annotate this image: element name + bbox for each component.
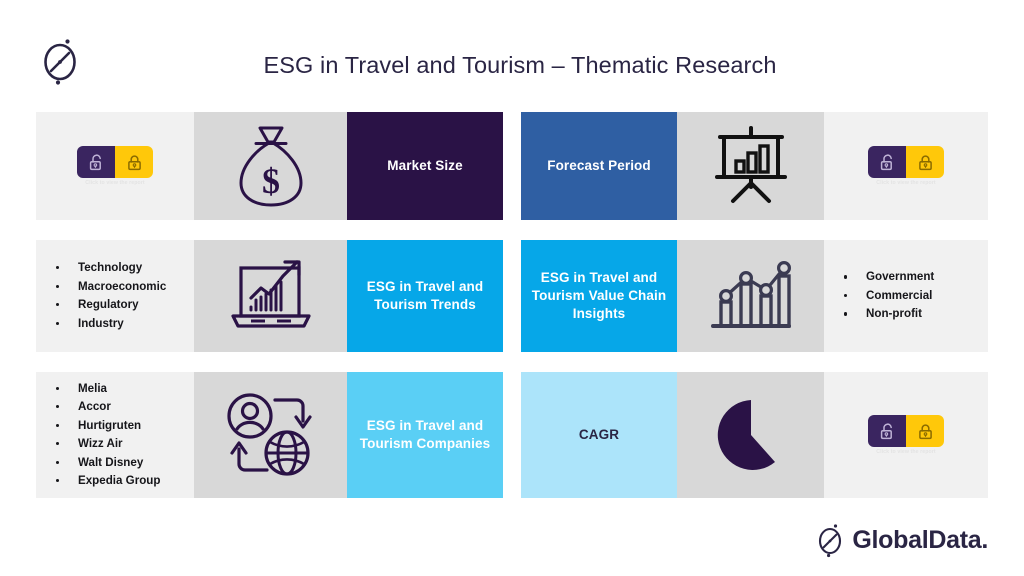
lock-toggle[interactable] [868, 415, 944, 447]
icon-cell-pie-chart [677, 372, 824, 498]
bar-line-combo-chart-icon [705, 256, 797, 336]
list-item: Wizz Air [50, 435, 188, 454]
list-item: Melia [50, 380, 188, 399]
unlock-icon[interactable] [868, 146, 906, 178]
bullet-list: Melia Accor Hurtigruten Wizz Air Walt Di… [36, 380, 194, 491]
list-item: Macroeconomic [50, 278, 188, 297]
label-cell-forecast-period[interactable]: Forecast Period [521, 112, 677, 220]
laptop-growth-chart-icon [225, 258, 317, 334]
row-gap [503, 112, 521, 220]
label-cell-trends[interactable]: ESG in Travel and Tourism Trends [347, 240, 503, 352]
globaldata-mark-icon [815, 522, 845, 558]
icon-cell-money-bag: $ [194, 112, 347, 220]
lock-toggle[interactable] [868, 146, 944, 178]
presentation-bar-chart-icon [707, 125, 795, 207]
row-companies: Melia Accor Hurtigruten Wizz Air Walt Di… [36, 372, 988, 498]
row-trends-right-group: ESG in Travel and Tourism Value Chain In… [521, 240, 988, 352]
money-bag-icon: $ [233, 123, 309, 209]
card-label: ESG in Travel and Tourism Value Chain In… [521, 269, 677, 324]
list-item: Technology [50, 259, 188, 278]
list-item: Non-profit [838, 305, 982, 324]
list-item: Expedia Group [50, 472, 188, 491]
bullets-cell-companies: Melia Accor Hurtigruten Wizz Air Walt Di… [36, 372, 194, 498]
lock-widget[interactable]: Click to view the report [868, 146, 944, 186]
lock-caption: Click to view the report [85, 180, 144, 186]
user-globe-exchange-icon [223, 389, 319, 481]
bullets-cell-stakeholders: Government Commercial Non-profit [824, 240, 988, 352]
globaldata-mark-icon [38, 36, 82, 86]
svg-text:$: $ [262, 161, 280, 201]
lock-icon[interactable] [115, 146, 153, 178]
label-cell-market-size[interactable]: Market Size [347, 112, 503, 220]
card-label: ESG in Travel and Tourism Trends [347, 278, 503, 314]
row-gap [503, 240, 521, 352]
card-label: CAGR [569, 426, 629, 444]
list-item: Commercial [838, 287, 982, 306]
unlock-icon[interactable] [77, 146, 115, 178]
icon-cell-user-globe [194, 372, 347, 498]
label-cell-companies[interactable]: ESG in Travel and Tourism Companies [347, 372, 503, 498]
page-title: ESG in Travel and Tourism – Thematic Res… [140, 52, 900, 79]
row-market-size-right-group: Forecast Period [521, 112, 988, 220]
lock-cell-row1-right[interactable]: Click to view the report [824, 112, 988, 220]
row-trends: Technology Macroeconomic Regulatory Indu… [36, 240, 988, 352]
icon-cell-bar-line-combo [677, 240, 824, 352]
label-cell-value-chain[interactable]: ESG in Travel and Tourism Value Chain In… [521, 240, 677, 352]
card-label: Forecast Period [537, 157, 661, 175]
lock-widget[interactable]: Click to view the report [868, 415, 944, 455]
list-item: Walt Disney [50, 454, 188, 473]
icon-cell-presentation-chart [677, 112, 824, 220]
bullet-list: Technology Macroeconomic Regulatory Indu… [36, 259, 194, 333]
row-companies-right-group: CAGR [521, 372, 988, 498]
list-item: Government [838, 268, 982, 287]
footer-logo: GlobalData. [815, 522, 988, 558]
card-label: Market Size [377, 157, 472, 175]
list-item: Regulatory [50, 296, 188, 315]
row-companies-left-group: Melia Accor Hurtigruten Wizz Air Walt Di… [36, 372, 503, 498]
lock-icon[interactable] [906, 146, 944, 178]
bullet-list: Government Commercial Non-profit [824, 268, 988, 324]
lock-caption: Click to view the report [876, 449, 935, 455]
lock-cell-row1-left[interactable]: Click to view the report [36, 112, 194, 220]
bullets-cell-trend-drivers: Technology Macroeconomic Regulatory Indu… [36, 240, 194, 352]
pie-chart-icon [713, 397, 789, 473]
list-item: Hurtigruten [50, 417, 188, 436]
unlock-icon[interactable] [868, 415, 906, 447]
lock-caption: Click to view the report [876, 180, 935, 186]
label-cell-cagr[interactable]: CAGR [521, 372, 677, 498]
list-item: Industry [50, 315, 188, 334]
list-item: Accor [50, 398, 188, 417]
row-gap [503, 372, 521, 498]
card-label: ESG in Travel and Tourism Companies [347, 417, 503, 453]
row-market-size-left-group: Click to view the report $ Market Size [36, 112, 503, 220]
row-trends-left-group: Technology Macroeconomic Regulatory Indu… [36, 240, 503, 352]
lock-cell-row3-right[interactable]: Click to view the report [824, 372, 988, 498]
icon-cell-laptop-growth [194, 240, 347, 352]
lock-widget[interactable]: Click to view the report [77, 146, 153, 186]
lock-icon[interactable] [906, 415, 944, 447]
row-market-size: Click to view the report $ Market Size F… [36, 112, 988, 220]
lock-toggle[interactable] [77, 146, 153, 178]
footer-logo-text: GlobalData. [852, 526, 988, 555]
page-header: ESG in Travel and Tourism – Thematic Res… [0, 0, 1024, 108]
